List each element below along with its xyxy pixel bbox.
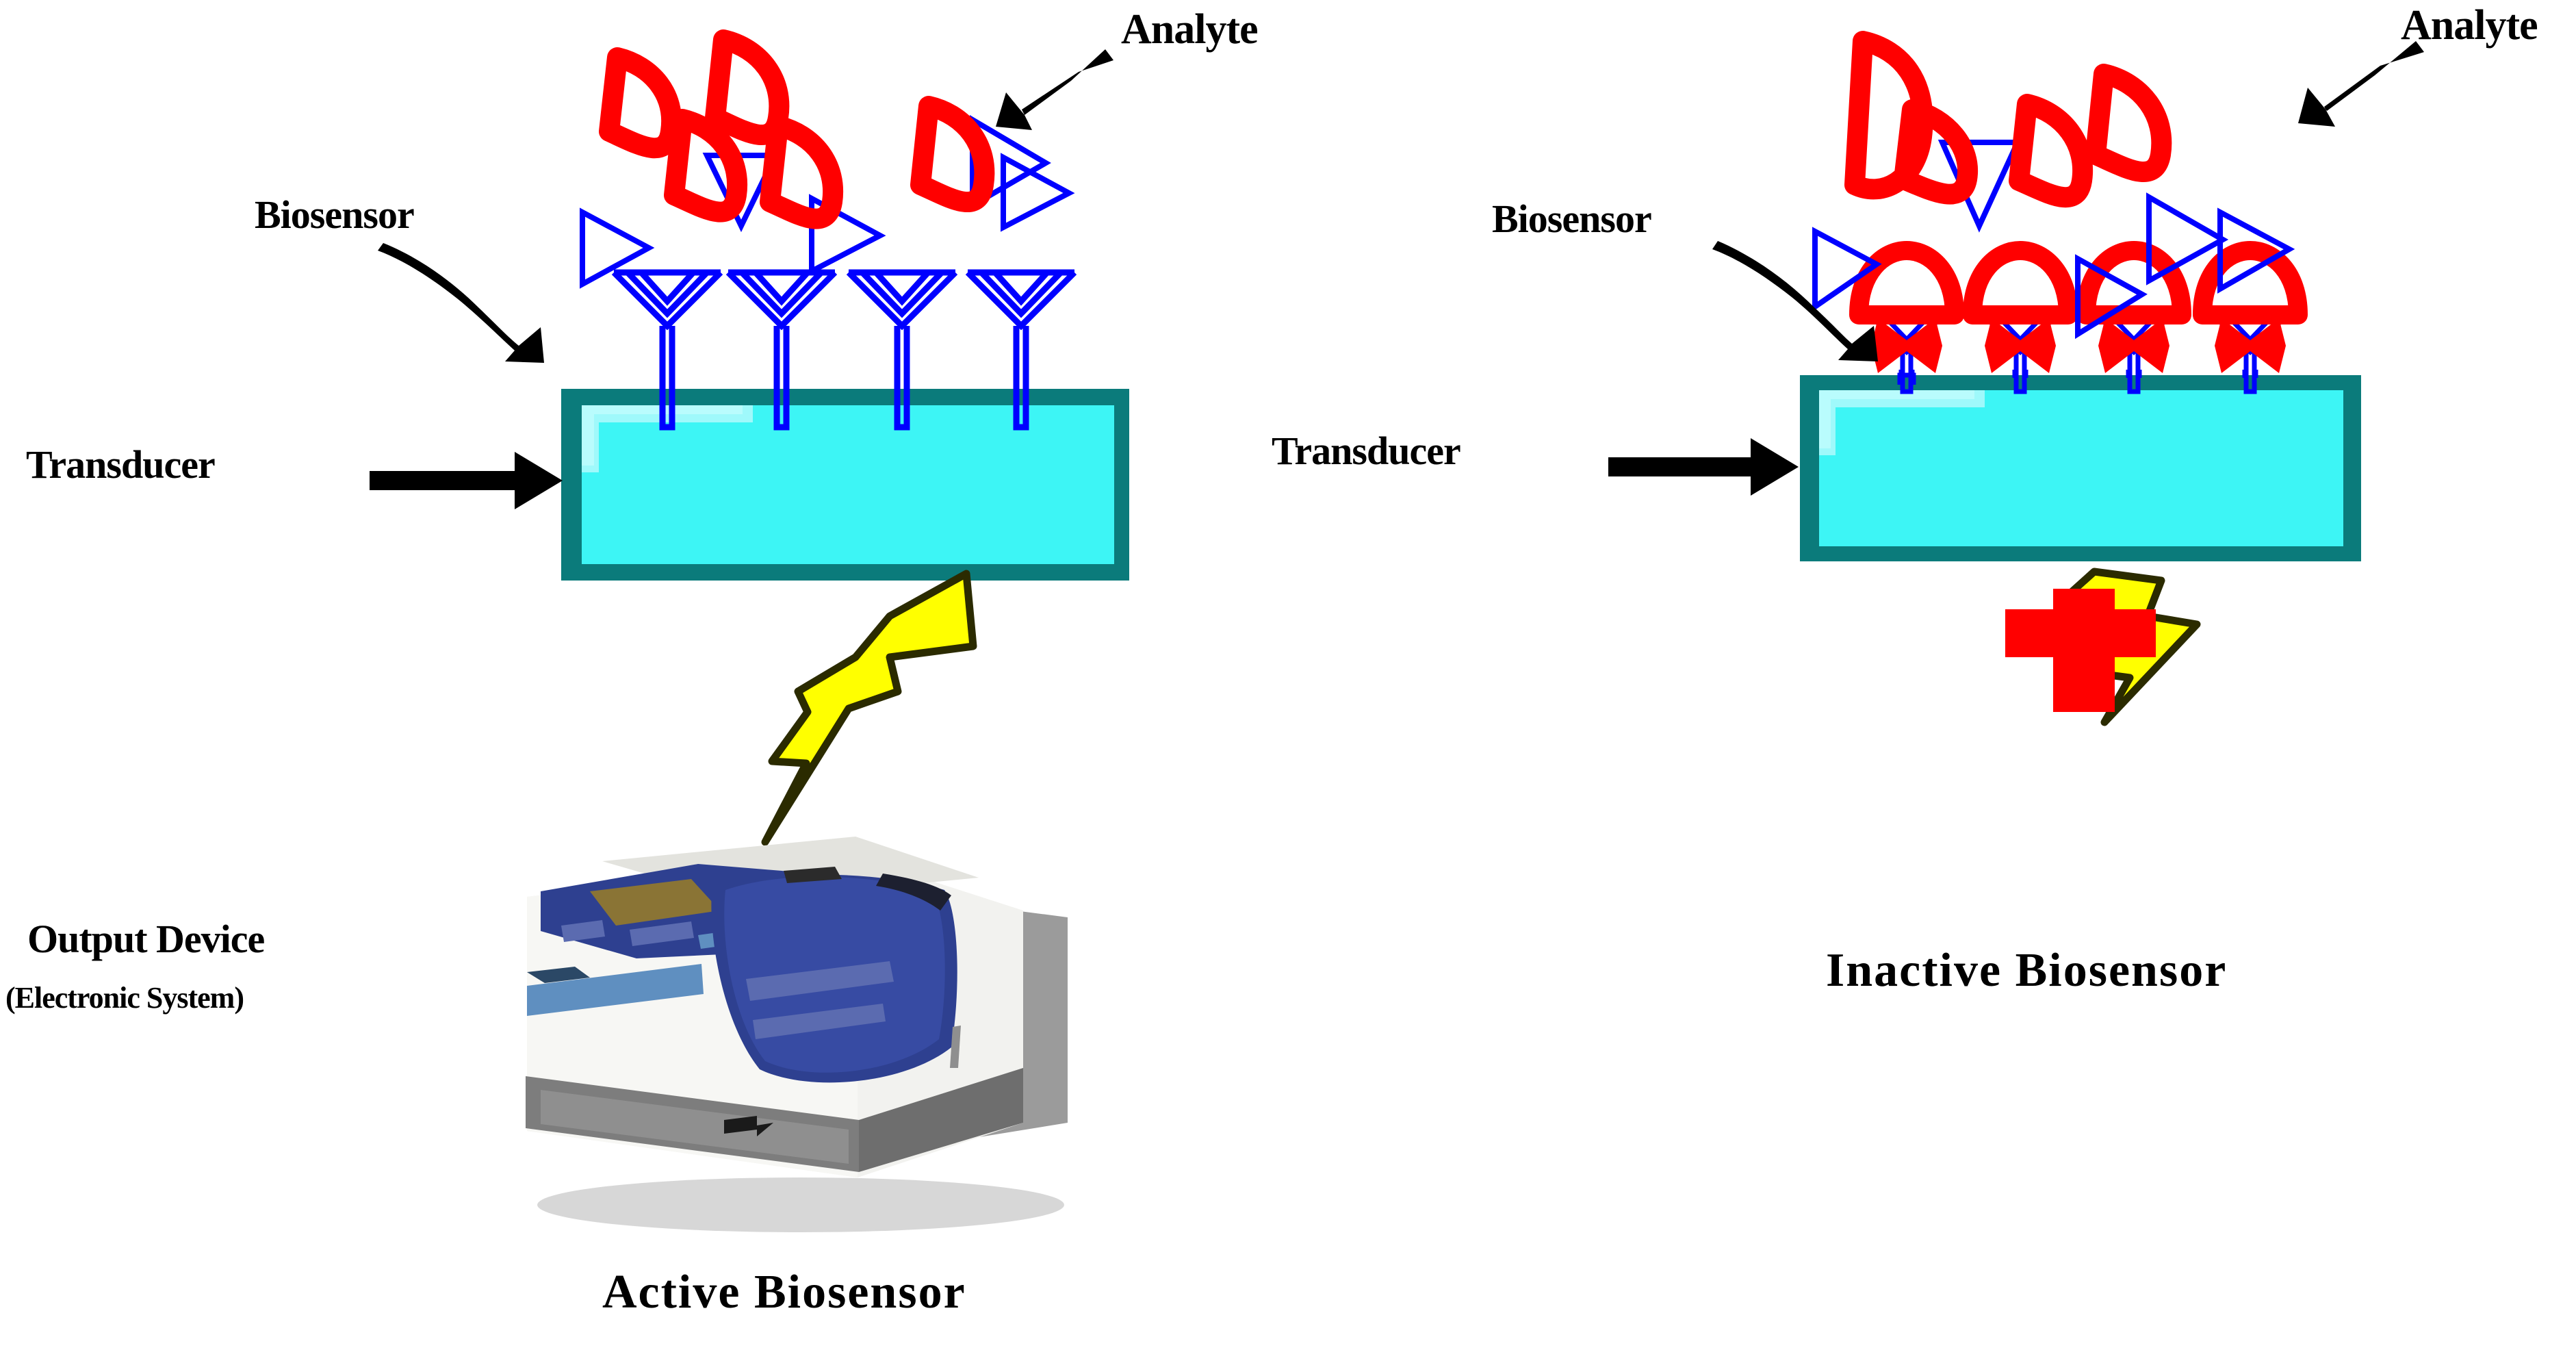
caption-inactive-biosensor: Inactive Biosensor (1826, 943, 2227, 998)
biosensor-stems-right (1900, 375, 1914, 385)
signal-bolt-right (2060, 572, 2197, 722)
biosensor-receptors-right (1864, 309, 2293, 392)
signal-bolt-left (765, 574, 973, 842)
output-device-label-line2: (Electronic System) (5, 980, 244, 1015)
no-signal-cross-right (2005, 589, 2156, 712)
biosensor-arrow-right (1712, 241, 1878, 361)
cross-marks-right (1871, 318, 2286, 373)
biosensor-receptors-left (614, 272, 1074, 427)
transducer-box-right (1800, 375, 2361, 561)
blocked-caps-right (1859, 251, 2298, 315)
antibody-triangles-right (1815, 142, 2289, 334)
transducer-arrow-left (370, 452, 563, 509)
biosensor-label-left: Biosensor (255, 192, 414, 238)
analyte-arrow-left (996, 49, 1113, 130)
transducer-arrow-right (1608, 438, 1799, 496)
output-device-label-line1: Output Device (27, 916, 264, 962)
biosensor-stem-lines-right (1901, 370, 2256, 378)
transducer-label-right: Transducer (1272, 428, 1460, 474)
analyte-label-right: Analyte (2401, 1, 2538, 50)
output-device-printer (526, 837, 1068, 1232)
analyte-glyphs-left (609, 40, 984, 219)
biosensor-label-right: Biosensor (1492, 196, 1651, 242)
transducer-label-left: Transducer (26, 442, 215, 487)
transducer-box-left (561, 389, 1129, 581)
antibody-triangles-left (582, 120, 1069, 284)
diagram-canvas: Analyte Biosensor Transducer Output Devi… (0, 0, 2576, 1350)
analyte-glyphs-right (1855, 41, 2161, 197)
caption-active-biosensor: Active Biosensor (602, 1265, 966, 1320)
biosensor-arrow-left (378, 243, 544, 363)
analyte-label-left: Analyte (1121, 5, 1258, 54)
analyte-arrow-right (2298, 41, 2424, 127)
